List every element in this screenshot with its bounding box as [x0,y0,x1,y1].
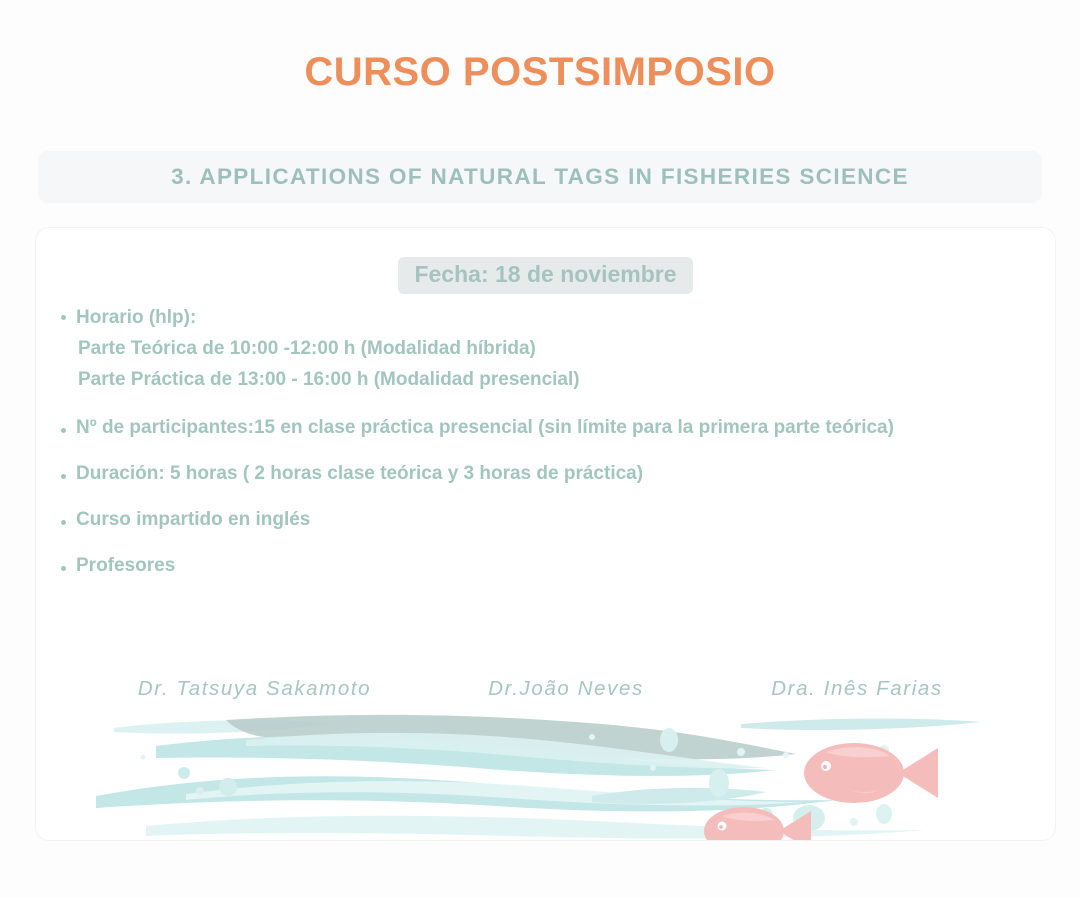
bubble-2 [196,787,204,795]
horario-teorica: Parte Teórica de 10:00 -12:00 h (Modalid… [76,333,1055,364]
underwater-decoration [36,710,1056,840]
bubble-9 [783,752,789,758]
bubble-14 [876,804,892,824]
list-item-participantes: Nº de participantes:15 en clase práctica… [36,415,1055,441]
idioma-text: Curso impartido en inglés [76,507,1055,533]
bubble-6 [650,765,656,771]
professor-name-3: Dra. Inês Farias [701,677,1013,701]
bubble-13 [850,818,858,826]
bubble-7 [709,769,729,797]
duracion-text: Duración: 5 horas ( 2 horas clase teóric… [76,461,1055,487]
horario-practica: Parte Práctica de 13:00 - 16:00 h (Modal… [76,364,1055,395]
course-subtitle-bar: 3. APPLICATIONS OF NATURAL TAGS IN FISHE… [38,151,1042,203]
list-item-horario: Horario (hlp): Parte Teórica de 10:00 -1… [36,302,1055,395]
underwater-scene-svg [36,710,1056,840]
date-row: Fecha: 18 de noviembre [36,257,1055,294]
fish-large-tail [898,748,938,798]
bubble-15 [589,734,595,740]
bubble-1 [178,767,190,779]
horario-label: Horario (hlp): [76,302,1055,333]
fish-small-pupil [719,825,723,829]
page-title: CURSO POSTSIMPOSIO [0,0,1080,96]
fish-large-pupil [823,765,827,769]
fish-large [804,743,938,803]
professor-name-2: Dr.João Neves [431,677,701,701]
bubble-5 [660,728,678,752]
participantes-text: Nº de participantes:15 en clase práctica… [76,415,1055,441]
professors-row: Dr. Tatsuya Sakamoto Dr.João Neves Dra. … [36,677,1055,701]
list-item-profesores: Profesores [36,553,1055,579]
course-subtitle-text: 3. APPLICATIONS OF NATURAL TAGS IN FISHE… [171,164,909,190]
list-item-duracion: Duración: 5 horas ( 2 horas clase teóric… [36,461,1055,487]
list-item-idioma: Curso impartido en inglés [36,507,1055,533]
professor-name-1: Dr. Tatsuya Sakamoto [78,677,431,701]
date-badge: Fecha: 18 de noviembre [398,257,692,294]
bubble-3 [219,778,237,796]
course-info-list: Horario (hlp): Parte Teórica de 10:00 -1… [36,302,1055,579]
profesores-text: Profesores [76,553,1055,579]
bubble-8 [737,748,745,756]
bubble-4 [141,755,146,760]
course-details-card: Fecha: 18 de noviembre Horario (hlp): Pa… [35,227,1056,841]
wave-streak-top-right [741,718,981,730]
